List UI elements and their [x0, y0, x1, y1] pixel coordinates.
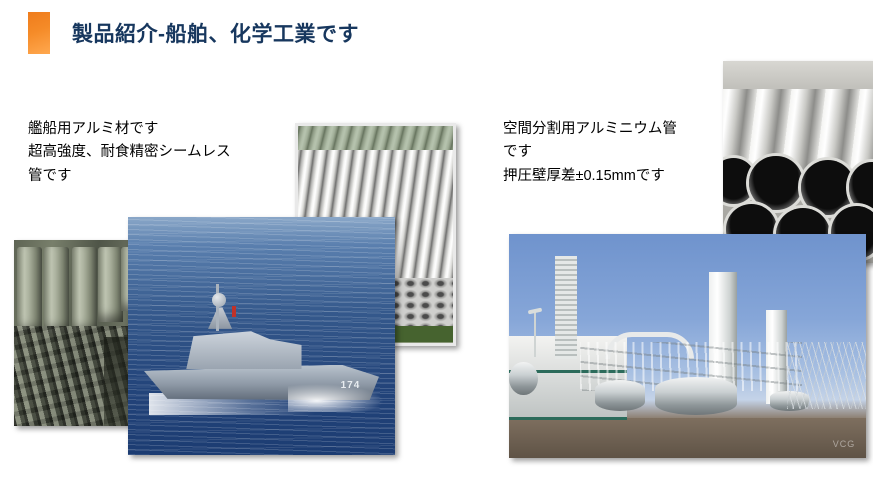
photo-chemical-plant-image: VCG: [509, 234, 866, 458]
tube-end-opening: [801, 160, 855, 215]
ship-mast: [216, 284, 219, 332]
photo-chemical-plant: VCG: [509, 234, 866, 458]
page-title: 製品紹介-船舶、化学工業です: [72, 18, 359, 48]
photo-naval-destroyer-image: 174: [128, 217, 395, 455]
plant-distillation-column: [555, 256, 576, 359]
plant-ground: [509, 418, 866, 458]
engine-cylinder: [17, 247, 42, 333]
photo-large-tube-bundle: [723, 61, 873, 263]
ship-flag: [232, 306, 236, 317]
engine-cylinder: [44, 247, 69, 333]
plant-structural-truss: [787, 342, 866, 409]
engine-cylinder: [98, 247, 123, 321]
plant-vessel: [655, 377, 737, 415]
photo-large-tube-bundle-image: [723, 61, 873, 263]
tube-end-opening: [749, 156, 803, 211]
plant-vessel: [595, 380, 645, 411]
plant-vessel: [509, 362, 538, 396]
left-caption-text: 艦船用アルミ材です 超高強度、耐食精密シームレス 管です: [28, 118, 298, 188]
right-caption-text: 空間分割用アルミニウム管 です 押圧壁厚差±0.15mmです: [503, 118, 733, 188]
ship-hull-number: 174: [341, 380, 361, 391]
title-accent-bar: [28, 12, 50, 54]
slide-title-row: 製品紹介-船舶、化学工業です: [28, 12, 359, 54]
photo-naval-destroyer: 174: [128, 217, 395, 455]
engine-cylinder: [72, 247, 97, 333]
ship-bow-wave: [288, 384, 384, 413]
photo-watermark: VCG: [833, 439, 856, 449]
plant-street-lamp: [534, 312, 536, 357]
